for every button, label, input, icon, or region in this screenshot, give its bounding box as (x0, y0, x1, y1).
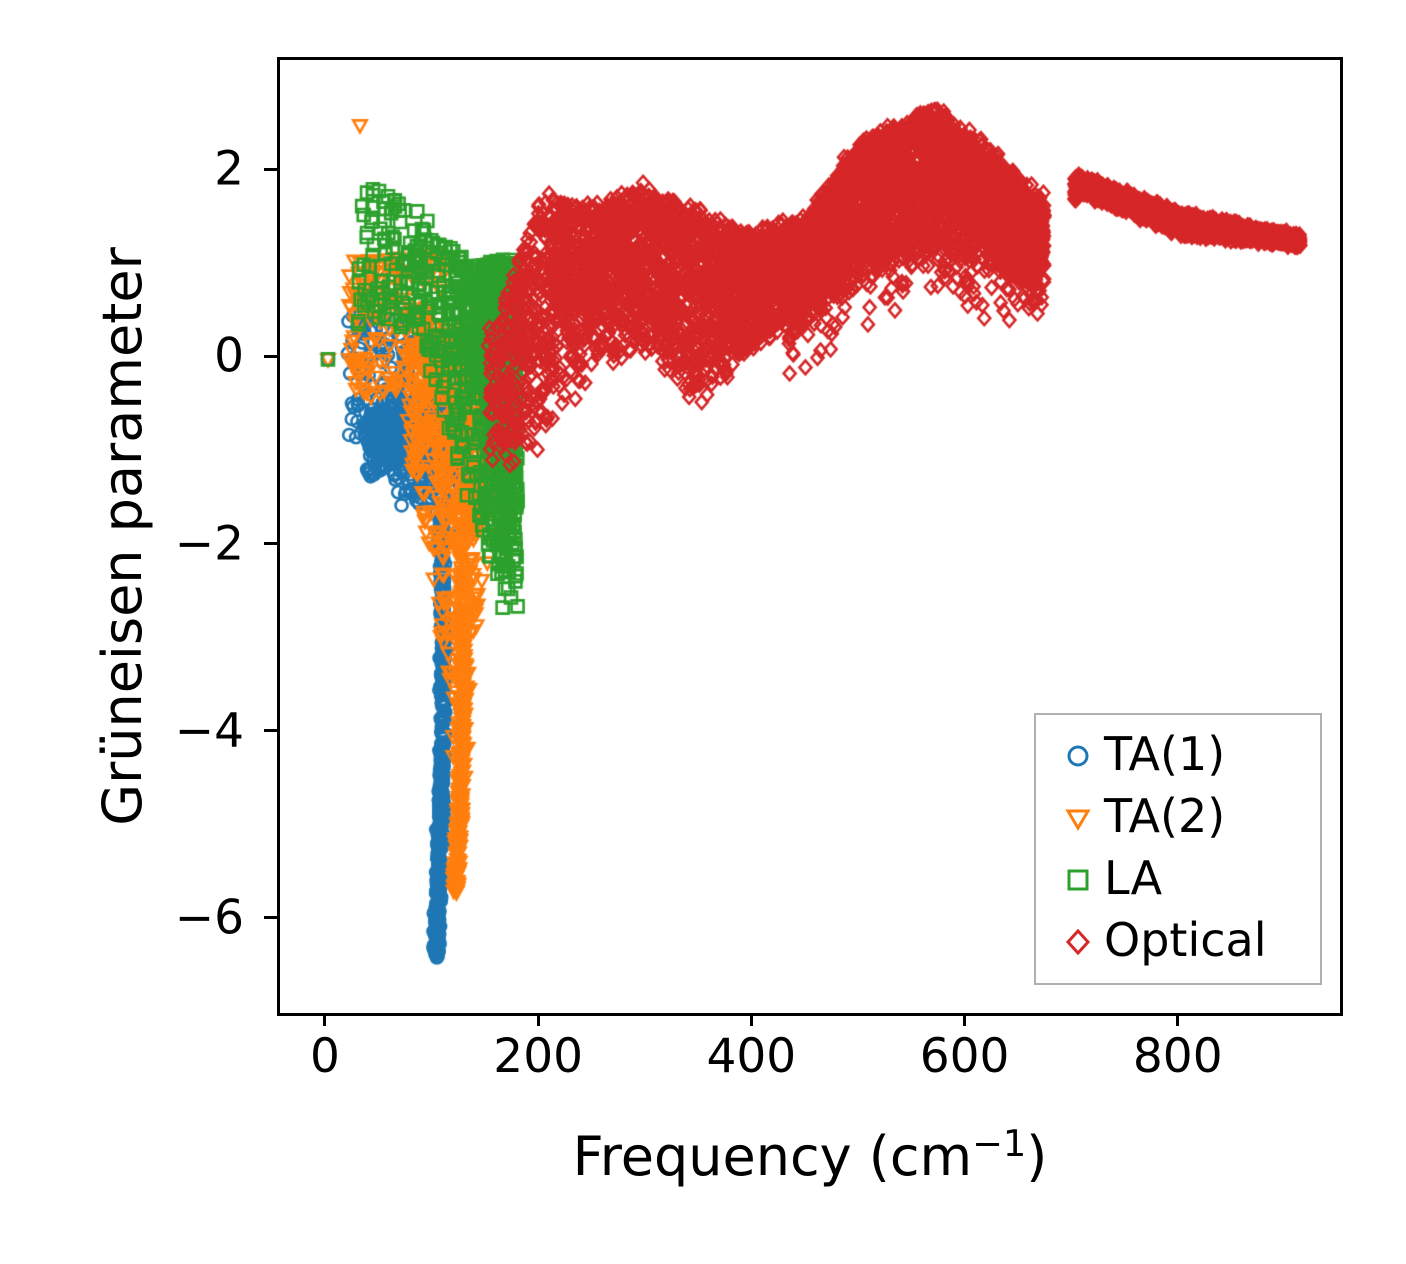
x-axis-label-exponent: −1 (972, 1122, 1026, 1165)
x-tick-label: 400 (707, 1033, 797, 1080)
legend-item-optical[interactable]: Optical (1036, 911, 1320, 973)
x-axis-label-tail: ) (1026, 1125, 1047, 1188)
triangle-down-marker-icon (1052, 801, 1104, 835)
legend-label-optical: Optical (1104, 917, 1266, 967)
x-tick (1176, 1013, 1179, 1026)
figure-canvas: 020040060080020−2−4−6 Frequency (cm−1) G… (0, 0, 1406, 1264)
x-tick-label: 200 (493, 1033, 583, 1080)
x-tick (963, 1013, 966, 1026)
legend-label-ta2: TA(2) (1104, 793, 1225, 843)
y-tick-label: −4 (175, 707, 244, 754)
square-marker-icon (1052, 863, 1104, 897)
x-axis-label: Frequency (cm−1) (277, 1125, 1343, 1186)
y-axis-label: Grüneisen parameter (96, 57, 150, 1016)
x-tick-label: 0 (310, 1033, 340, 1080)
y-tick-label: −6 (175, 894, 244, 941)
y-tick-label: 0 (214, 333, 244, 380)
circle-marker-icon (1052, 739, 1104, 773)
x-tick (750, 1013, 753, 1026)
legend-item-la[interactable]: LA (1036, 849, 1320, 911)
y-tick (264, 542, 277, 545)
x-tick-label: 800 (1133, 1033, 1223, 1080)
legend-label-ta1: TA(1) (1104, 731, 1225, 781)
x-tick (537, 1013, 540, 1026)
legend-item-ta1[interactable]: TA(1) (1036, 725, 1320, 787)
legend-label-la: LA (1104, 855, 1162, 905)
x-axis-label-text: Frequency (cm (573, 1125, 973, 1188)
y-tick (264, 916, 277, 919)
x-tick (323, 1013, 326, 1026)
legend-item-ta2[interactable]: TA(2) (1036, 787, 1320, 849)
y-tick (264, 168, 277, 171)
y-tick-label: −2 (175, 520, 244, 567)
x-tick-label: 600 (920, 1033, 1010, 1080)
diamond-marker-icon (1052, 925, 1104, 959)
y-tick-label: 2 (214, 146, 244, 193)
y-tick (264, 729, 277, 732)
y-tick (264, 355, 277, 358)
chart-legend[interactable]: TA(1) TA(2) LA Optical (1034, 713, 1322, 985)
